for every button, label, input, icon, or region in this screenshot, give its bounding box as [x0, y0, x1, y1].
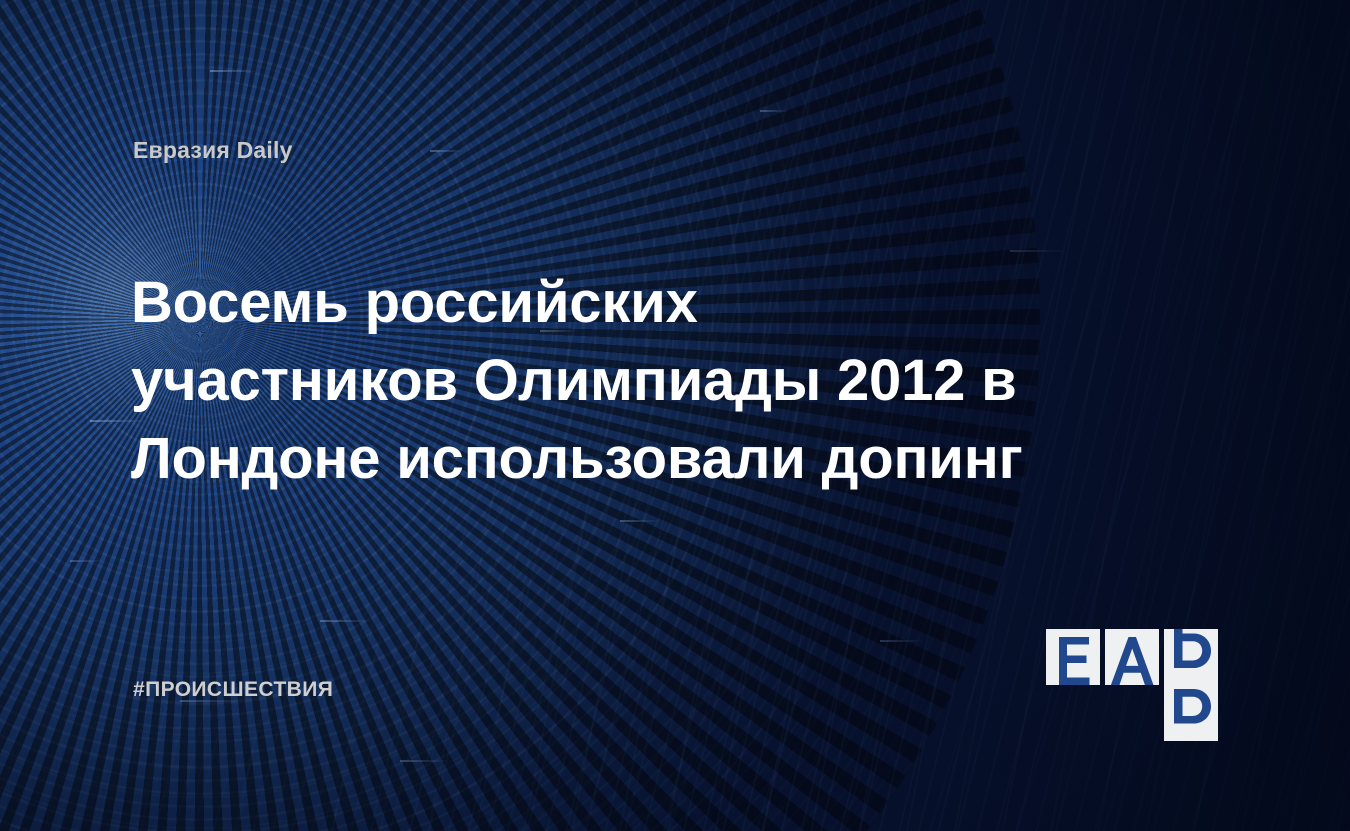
page-title: Восемь российских участников Олимпиады 2…: [131, 264, 1031, 498]
category-hashtag[interactable]: #ПРОИСШЕСТВИЯ: [133, 678, 333, 702]
letter-d-upper-tile-icon: [1164, 629, 1218, 685]
news-card: Евразия Daily Восемь российских участник…: [0, 0, 1350, 831]
letter-a-tile-icon: [1105, 629, 1159, 685]
card-content: Евразия Daily Восемь российских участник…: [0, 0, 1350, 831]
letter-d-lower-tile-icon: [1164, 685, 1218, 741]
site-name: Евразия Daily: [133, 137, 293, 164]
eadaily-logo[interactable]: [1046, 629, 1222, 741]
letter-e-tile-icon: [1046, 629, 1100, 685]
